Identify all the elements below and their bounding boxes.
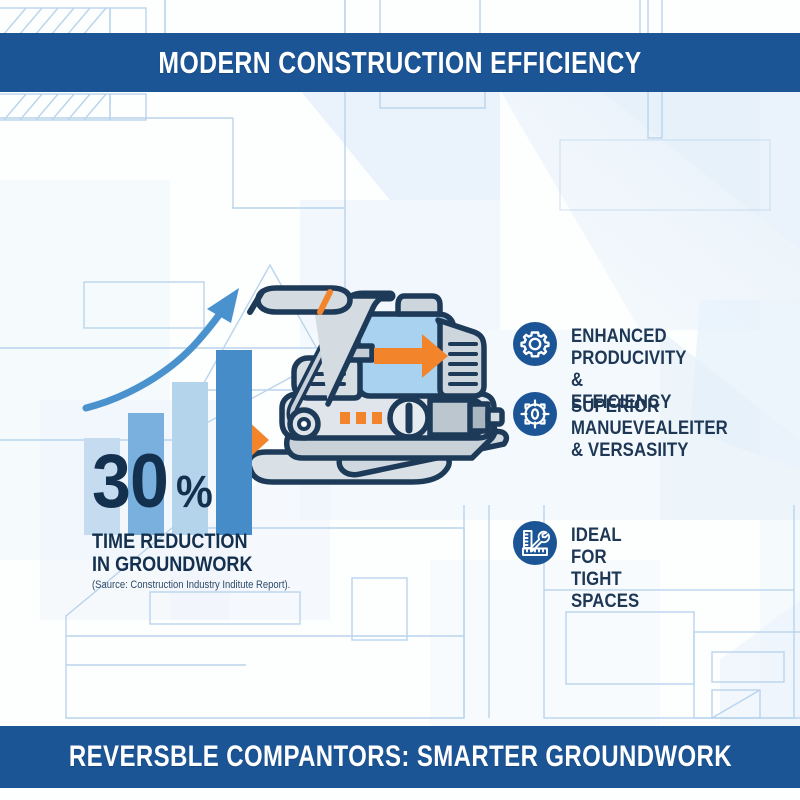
stat-value: 30 <box>92 448 168 516</box>
feature-label: SUPERIOR MANUEVEALEITER & VERSASIITY <box>571 392 728 461</box>
fuel-tank <box>398 296 440 314</box>
infographic-poster: MODERN CONSTRUCTION EFFICIENCY 30 % TIME… <box>0 0 800 800</box>
ruler-wrench-icon <box>513 521 557 565</box>
footer-banner: REVERSBLE COMPANTORS: SMARTER GROUNDWORK <box>0 726 800 788</box>
indicator-lights <box>340 412 382 424</box>
stat-block: 30 % TIME REDUCTION IN GROUNDWORK (Saurc… <box>78 285 328 605</box>
feature-item-tight-spaces[interactable]: IDEAL FOR TIGHT SPACES <box>513 521 650 612</box>
target-icon <box>513 392 557 436</box>
feature-item-maneuverability[interactable]: SUPERIOR MANUEVEALEITER & VERSASIITY <box>513 392 753 461</box>
feature-label: IDEAL FOR TIGHT SPACES <box>571 521 639 612</box>
drum-peg <box>488 410 502 424</box>
stat-caption: TIME REDUCTION IN GROUNDWORK <box>92 530 253 576</box>
stat-caption-line-1: TIME REDUCTION <box>92 530 253 553</box>
stat-source: (Saurce: Construction Industry Inditute … <box>92 579 290 591</box>
bar-4 <box>216 350 252 535</box>
page-title: MODERN CONSTRUCTION EFFICIENCY <box>158 45 641 81</box>
footer-title: REVERSBLE COMPANTORS: SMARTER GROUNDWORK <box>68 740 731 774</box>
stat-number: 30 % <box>92 448 216 516</box>
stat-caption-line-2: IN GROUNDWORK <box>92 553 253 576</box>
stat-unit: % <box>176 472 213 513</box>
gear-icon <box>513 322 557 366</box>
header-banner: MODERN CONSTRUCTION EFFICIENCY <box>0 33 800 92</box>
